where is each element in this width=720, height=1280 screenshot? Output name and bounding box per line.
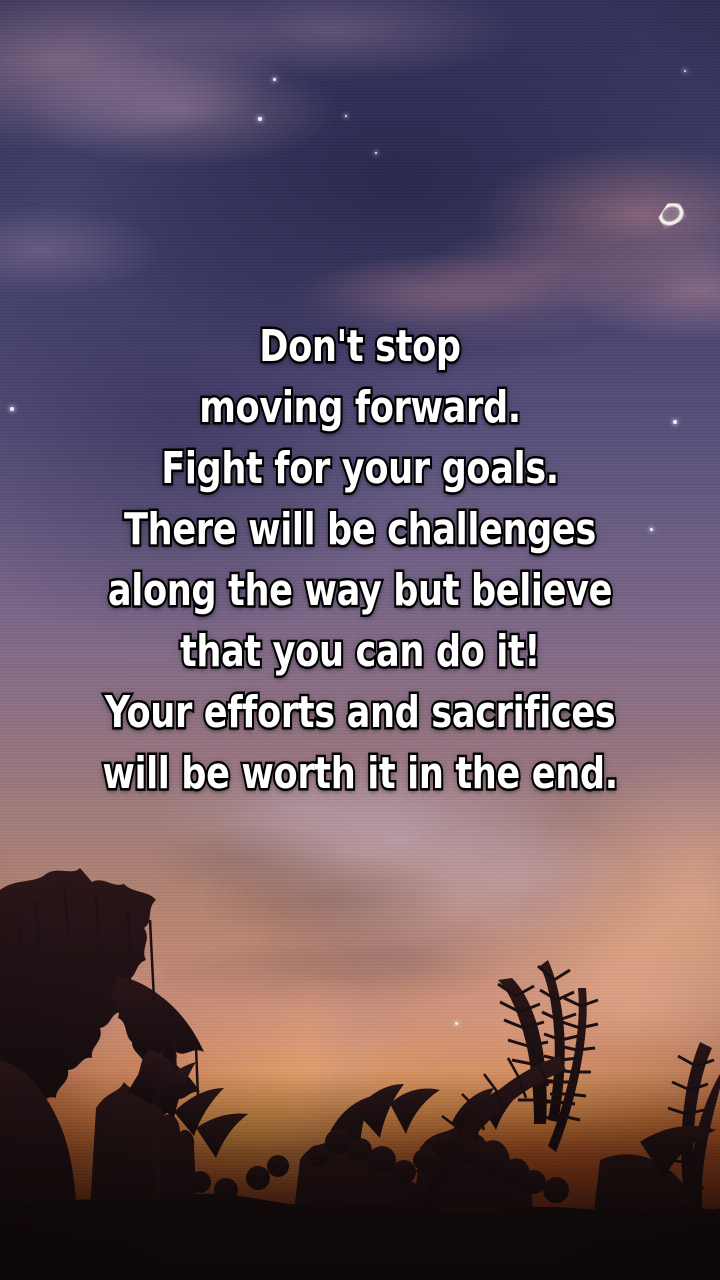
quote-line: that you can do it! (72, 621, 648, 682)
motivational-quote-text: Don't stopmoving forward.Fight for your … (0, 316, 720, 804)
star-icon (345, 115, 347, 117)
quote-line: moving forward. (72, 377, 648, 438)
tree-silhouettes (0, 860, 720, 1280)
sunset-quote-poster: Don't stopmoving forward.Fight for your … (0, 0, 720, 1280)
star-icon (258, 117, 262, 121)
star-icon (273, 78, 276, 81)
quote-line: along the way but believe (72, 560, 648, 621)
star-icon (375, 152, 377, 154)
star-icon (684, 70, 686, 72)
quote-line: will be worth it in the end. (72, 743, 648, 804)
quote-line: Fight for your goals. (72, 438, 648, 499)
quote-line: Don't stop (72, 316, 648, 377)
crescent-moon-icon (654, 198, 687, 230)
quote-line: There will be challenges (72, 499, 648, 560)
quote-line: Your efforts and sacrifices (72, 682, 648, 743)
